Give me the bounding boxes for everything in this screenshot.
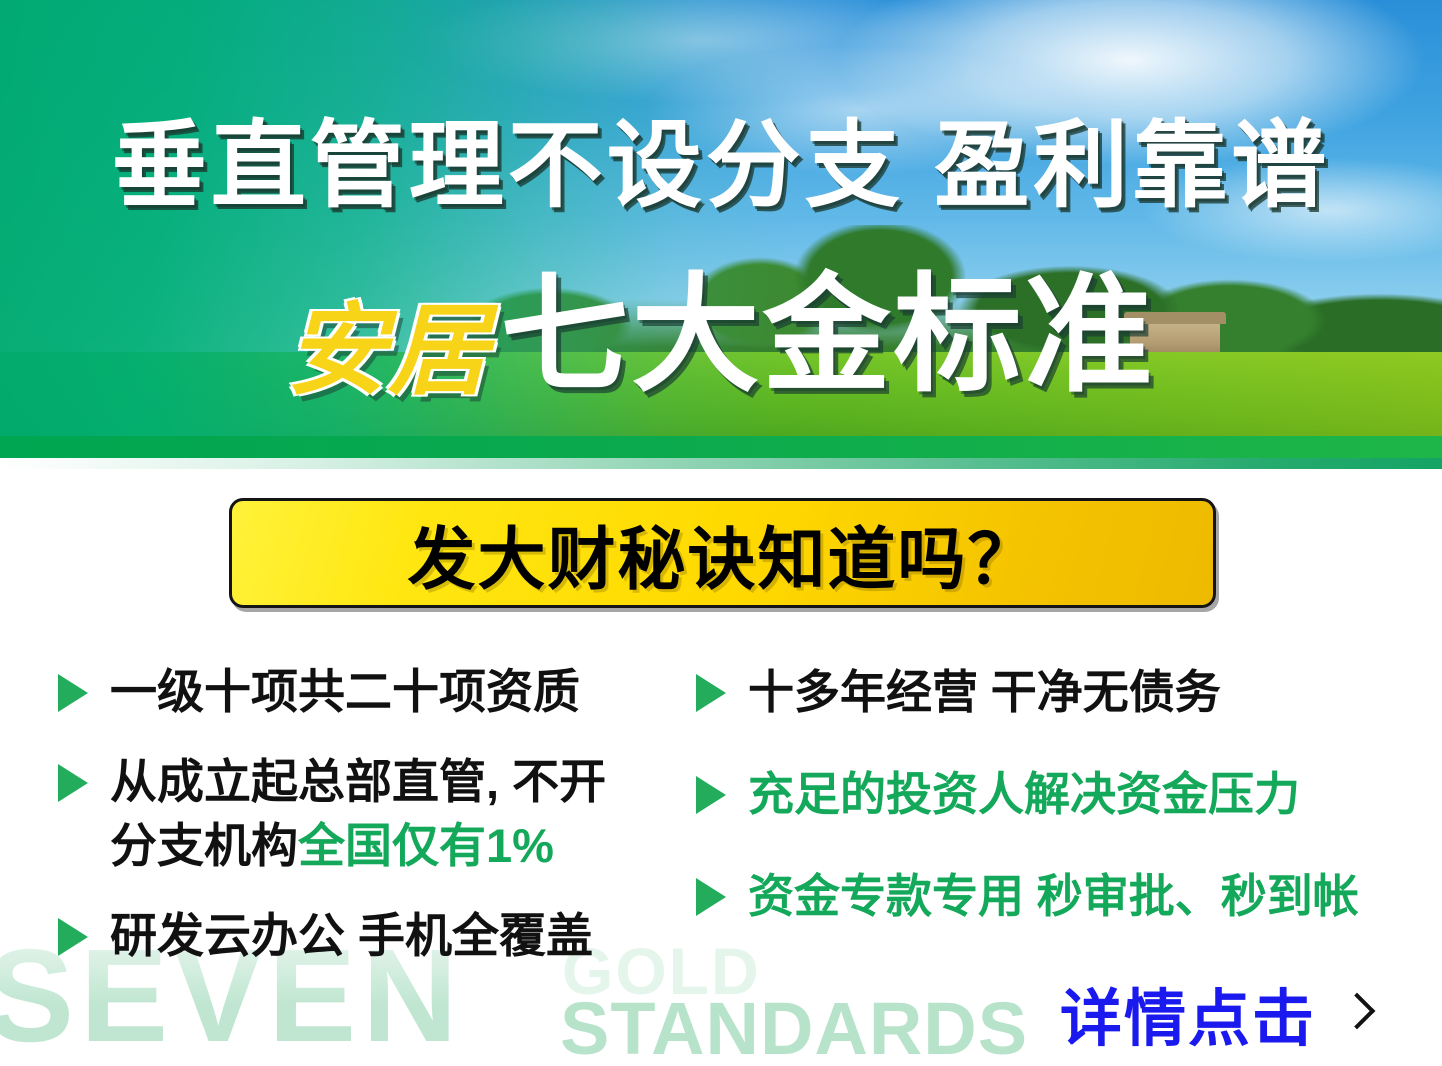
detail-link[interactable]: 详情点击	[1060, 968, 1366, 1058]
secret-cta-label: 发大财秘诀知道吗？	[407, 504, 1037, 603]
hero-headline-main-word: 七大金标准	[500, 264, 1155, 407]
hero-brand-word: 安居	[286, 295, 490, 407]
promo-banner: 垂直管理不设分支 盈利靠谱 安居七大金标准 发大财秘诀知道吗？ SEVEN GO…	[0, 0, 1442, 1066]
triangle-right-icon	[696, 674, 726, 712]
chevron-right-icon	[1342, 992, 1366, 1034]
feature-item-headquarters-direct: 从成立起总部直管, 不开 分支机构全国仅有1%	[58, 750, 688, 878]
detail-link-label: 详情点击	[1060, 968, 1316, 1058]
hero-fade-strip	[0, 458, 1442, 469]
triangle-right-icon	[58, 674, 88, 712]
feature-column-left: 一级十项共二十项资质 从成立起总部直管, 不开 分支机构全国仅有1% 研发云办公…	[58, 660, 688, 994]
feature-column-right: 十多年经营 干净无债务 充足的投资人解决资金压力 资金专款专用 秒审批、秒到帐	[696, 660, 1396, 966]
feature-item-qualifications: 一级十项共二十项资质	[58, 660, 688, 724]
feature-label-qualifications: 一级十项共二十项资质	[110, 660, 580, 724]
watermark-standards: STANDARDS	[560, 992, 1028, 1066]
hero-headline-secondary: 安居七大金标准	[0, 272, 1442, 439]
feature-item-dedicated-funds: 资金专款专用 秒审批、秒到帐	[696, 864, 1396, 928]
feature-highlight-nationwide-one-percent: 全国仅有1%	[298, 819, 554, 872]
feature-label-years-operating: 十多年经营 干净无债务	[748, 660, 1221, 724]
hero-headline-primary: 垂直管理不设分支 盈利靠谱	[0, 112, 1442, 220]
hero-bottom-band	[0, 436, 1442, 458]
feature-label-headquarters-direct: 从成立起总部直管, 不开 分支机构全国仅有1%	[110, 750, 606, 878]
triangle-right-icon	[58, 918, 88, 956]
feature-lists: 一级十项共二十项资质 从成立起总部直管, 不开 分支机构全国仅有1% 研发云办公…	[0, 660, 1442, 980]
triangle-right-icon	[696, 776, 726, 814]
feature-item-investors-capital: 充足的投资人解决资金压力	[696, 762, 1396, 826]
feature-label-investors-capital: 充足的投资人解决资金压力	[748, 762, 1300, 826]
feature-item-years-operating: 十多年经营 干净无债务	[696, 660, 1396, 724]
feature-item-cloud-office: 研发云办公 手机全覆盖	[58, 904, 688, 968]
triangle-right-icon	[696, 878, 726, 916]
secret-cta-bar[interactable]: 发大财秘诀知道吗？	[229, 498, 1216, 608]
feature-label-dedicated-funds: 资金专款专用 秒审批、秒到帐	[748, 864, 1359, 928]
feature-label-cloud-office: 研发云办公 手机全覆盖	[110, 904, 593, 968]
triangle-right-icon	[58, 764, 88, 802]
